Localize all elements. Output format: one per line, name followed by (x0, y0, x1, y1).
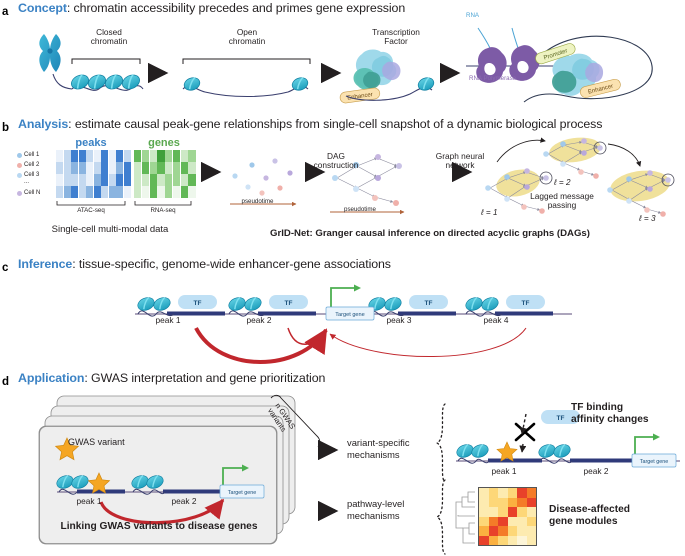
atac-peaks-heatmap (56, 150, 131, 198)
heatmap-cell (56, 150, 63, 162)
heatmap-cell (71, 174, 78, 186)
panel-b-letter: b (2, 118, 9, 136)
peak-1-label-d: peak 1 (61, 497, 117, 506)
heatmap-cell (498, 507, 508, 517)
target-gene-marker: Target gene (326, 285, 374, 321)
rna-axis-bracket (134, 200, 192, 206)
peak-2-label-e: peak 2 (571, 467, 621, 476)
panel-b-keyword: Analysis (18, 117, 68, 131)
enhancer-label-a: Enhancer (339, 87, 380, 103)
heatmap-cell (86, 174, 93, 186)
heatmap-cell (116, 174, 123, 186)
heatmap-cell (71, 162, 78, 174)
heatmap-cell (150, 174, 157, 186)
heatmap-cell (165, 174, 172, 186)
heatmap-cell (150, 186, 157, 198)
heatmap-cell (101, 162, 108, 174)
panel-c-letter: c (2, 258, 8, 276)
panel-d-letter: d (2, 372, 9, 390)
n-gwas-variants-label: n GWAS variants (276, 392, 336, 452)
heatmap-cell (517, 488, 527, 498)
heatmap-cell (489, 507, 499, 517)
svg-text:Target gene: Target gene (335, 312, 365, 318)
panel-b-heading: Analysis: estimate causal peak-gene rela… (18, 117, 602, 131)
heatmap-cell (508, 488, 518, 498)
heatmap-cell (489, 517, 499, 527)
panel-c-title: : tissue-specific, genome-wide enhancer-… (72, 257, 391, 271)
heatmap-cell (517, 507, 527, 517)
cell-dot-icon (17, 153, 22, 158)
variant-star-icon-e (497, 442, 517, 461)
heatmap-cell (173, 162, 180, 174)
heatmap-cell (165, 162, 172, 174)
heatmap-cell (124, 162, 131, 174)
heatmap-cell (479, 488, 489, 498)
rna-polymerase-complex: Promoter Enhancer (466, 28, 652, 102)
heatmap-cell (489, 526, 499, 536)
heatmap-cell (94, 150, 101, 162)
pathway-level-mechanisms-label: pathway-level mechanisms (347, 498, 431, 522)
panel-a-title: : chromatin accessibility precedes and p… (67, 1, 405, 15)
heatmap-cell (479, 517, 489, 527)
heatmap-cell (64, 174, 71, 186)
heatmap-cell (165, 150, 172, 162)
heatmap-cell (498, 488, 508, 498)
rna-polymerase-label: RNA Polymerase (469, 75, 516, 82)
heatmap-cell (173, 150, 180, 162)
target-gene-marker-e: Target gene (632, 434, 676, 468)
peaks-matrix-title: peaks (56, 137, 126, 149)
chromosome-icon (39, 34, 60, 72)
heatmap-cell (142, 162, 149, 174)
heatmap-cell (124, 186, 131, 198)
cell-dot-icon (17, 173, 22, 178)
heatmap-cell (479, 507, 489, 517)
heatmap-cell (94, 174, 101, 186)
panel-a-heading: Concept: chromatin accessibility precede… (18, 1, 405, 15)
heatmap-cell (157, 162, 164, 174)
heatmap-cell (479, 526, 489, 536)
heatmap-cell (527, 517, 537, 527)
cell-ellipsis: ... (17, 180, 57, 188)
arrow-pathway-level (322, 505, 344, 517)
heatmap-cell (188, 150, 195, 162)
blocked-binding-x-icon (516, 414, 534, 452)
heatmap-cell (479, 498, 489, 508)
heatmap-cell (71, 186, 78, 198)
tf-pill-3: TF (409, 295, 448, 309)
rna-label: RNA (466, 12, 479, 19)
heatmap-cell (508, 536, 518, 546)
heatmap-cell (188, 174, 195, 186)
heatmap-cell (109, 162, 116, 174)
heatmap-cell (157, 150, 164, 162)
peak-4-label-c: peak 4 (468, 316, 524, 325)
cell-dot-icon (17, 191, 22, 196)
panel-c-heading: Inference: tissue-specific, genome-wide … (18, 257, 391, 271)
heatmap-cell (134, 174, 141, 186)
layer-1-label: ℓ = 1 (481, 208, 498, 217)
panel-c-keyword: Inference (18, 257, 72, 271)
card-caption: Linking GWAS variants to disease genes (45, 521, 273, 532)
heatmap-cell (150, 150, 157, 162)
heatmap-cell (188, 162, 195, 174)
heatmap-cell (109, 150, 116, 162)
panel-d-title: : GWAS interpretation and gene prioritiz… (84, 371, 325, 385)
heatmap-cell (101, 150, 108, 162)
arrow-variant-specific (322, 444, 344, 456)
heatmap-cell (527, 498, 537, 508)
heatmap-cell (527, 526, 537, 536)
dag-l3 (607, 167, 674, 217)
peak-3-label-c: peak 3 (371, 316, 427, 325)
heatmap-cell (498, 517, 508, 527)
open-chromatin-nucleosomes (182, 76, 309, 97)
heatmap-cell (142, 150, 149, 162)
heatmap-cell (134, 186, 141, 198)
heatmap-cell (479, 536, 489, 546)
heatmap-cell (142, 174, 149, 186)
heatmap-cell (517, 517, 527, 527)
rna-genes-heatmap (134, 150, 196, 198)
brace-pathway-level (435, 478, 449, 556)
open-chromatin-label: Open chromatin (214, 28, 280, 47)
heatmap-cell (527, 507, 537, 517)
heatmap-cell (498, 526, 508, 536)
heatmap-cell (56, 186, 63, 198)
heatmap-cell (134, 162, 141, 174)
heatmap-cell (181, 150, 188, 162)
genes-matrix-title: genes (134, 137, 194, 149)
disease-module-heatmap (478, 487, 537, 546)
heatmap-cell (527, 536, 537, 546)
heatmap-cell (517, 526, 527, 536)
heatmap-cell (150, 162, 157, 174)
heatmap-cell (508, 517, 518, 527)
peak-1-label-e: peak 1 (479, 467, 529, 476)
transcription-factor-blob (354, 50, 401, 90)
dag-l2 (543, 134, 606, 178)
heatmap-cell (79, 162, 86, 174)
gwas-variant-legend-label: GWAS variant (68, 437, 125, 447)
heatmap-cell (124, 174, 131, 186)
layer-2-label: ℓ = 2 (554, 178, 571, 187)
cell-row-labels: Cell 1 Cell 2 Cell 3 ... Cell N (17, 150, 57, 198)
peak-2-label-c: peak 2 (231, 316, 287, 325)
dag-construction-label: DAG construction (305, 152, 367, 171)
rna-seq-label: RNA-seq (134, 207, 192, 214)
heatmap-cell (116, 186, 123, 198)
heatmap-cell (94, 162, 101, 174)
gnn-label: Graph neural network (425, 152, 495, 171)
peak-2-label-d: peak 2 (156, 497, 212, 506)
heatmap-cell (109, 174, 116, 186)
heatmap-cell (142, 186, 149, 198)
heatmap-cell (124, 150, 131, 162)
heatmap-cell (79, 150, 86, 162)
heatmap-cell (116, 162, 123, 174)
svg-text:Target gene: Target gene (640, 459, 668, 465)
lagged-message-passing-label: Lagged message passing (521, 192, 603, 211)
heatmap-cell (101, 174, 108, 186)
heatmap-cell (109, 186, 116, 198)
peak-1-label-c: peak 1 (140, 316, 196, 325)
svg-text:TF: TF (557, 415, 565, 422)
tf-pill-1: TF (178, 295, 217, 309)
panel-d-keyword: Application (18, 371, 84, 385)
heatmap-cell (56, 162, 63, 174)
heatmap-cell (64, 162, 71, 174)
pseudotime-label-1: pseudotime (225, 198, 290, 205)
closed-chromatin-nucleosomes (69, 72, 143, 91)
heatmap-cell (517, 536, 527, 546)
heatmap-cell (157, 186, 164, 198)
closed-chromatin-label: Closed chromatin (76, 28, 142, 47)
heatmap-cell (116, 150, 123, 162)
heatmap-cell (181, 162, 188, 174)
heatmap-cell (165, 186, 172, 198)
heatmap-cell (173, 174, 180, 186)
heatmap-cell (101, 186, 108, 198)
heatmap-cell (71, 150, 78, 162)
heatmap-cell (498, 536, 508, 546)
multimodal-caption: Single-cell multi-modal data (20, 225, 200, 236)
grid-net-caption: GrID-Net: Granger causal inference on di… (200, 228, 660, 239)
svg-text:TF: TF (194, 300, 202, 307)
tf-pill-4: TF (506, 295, 545, 309)
heatmap-cell (79, 186, 86, 198)
brace-variant-specific (435, 402, 449, 484)
heatmap-cell (527, 488, 537, 498)
disease-modules-label: Disease-affected gene modules (549, 504, 679, 528)
panel-d-heading: Application: GWAS interpretation and gen… (18, 371, 325, 385)
svg-text:TF: TF (522, 300, 530, 307)
heatmap-cell (79, 174, 86, 186)
atac-seq-label: ATAC-seq (56, 207, 126, 214)
tf-pill-2: TF (269, 295, 308, 309)
atac-axis-bracket (56, 200, 126, 206)
heatmap-cell (489, 536, 499, 546)
heatmap-cell (489, 488, 499, 498)
layer-3-label: ℓ = 3 (639, 214, 656, 223)
heatmap-cell (517, 498, 527, 508)
heatmap-cell (489, 498, 499, 508)
transcription-factor-label: Transcription Factor (352, 28, 440, 47)
heatmap-cell (181, 186, 188, 198)
heatmap-cell (188, 186, 195, 198)
heatmap-cell (86, 162, 93, 174)
heatmap-cell (498, 498, 508, 508)
heatmap-cell (134, 150, 141, 162)
heatmap-cell (64, 150, 71, 162)
heatmap-cell (56, 174, 63, 186)
variant-specific-mechanisms-label: variant-specific mechanisms (347, 437, 431, 461)
heatmap-cell (157, 174, 164, 186)
heatmap-cell (508, 507, 518, 517)
cell-dot-icon (17, 163, 22, 168)
heatmap-cell (64, 186, 71, 198)
pseudotime-label-2: pseudotime (325, 206, 395, 213)
heatmap-cell (86, 150, 93, 162)
heatmap-cell (94, 186, 101, 198)
svg-text:Target gene: Target gene (228, 490, 256, 496)
heatmap-cell (181, 174, 188, 186)
gene-module-dendrogram (452, 486, 476, 550)
heatmap-cell (86, 186, 93, 198)
heatmap-cell (508, 526, 518, 536)
svg-text:TF: TF (425, 300, 433, 307)
tf-binding-affinity-label: TF binding affinity changes (571, 402, 685, 426)
svg-text:TF: TF (285, 300, 293, 307)
heatmap-cell (173, 186, 180, 198)
heatmap-cell (508, 498, 518, 508)
panel-a-keyword: Concept (18, 1, 67, 15)
panel-b-title: : estimate causal peak-gene relationship… (68, 117, 602, 131)
